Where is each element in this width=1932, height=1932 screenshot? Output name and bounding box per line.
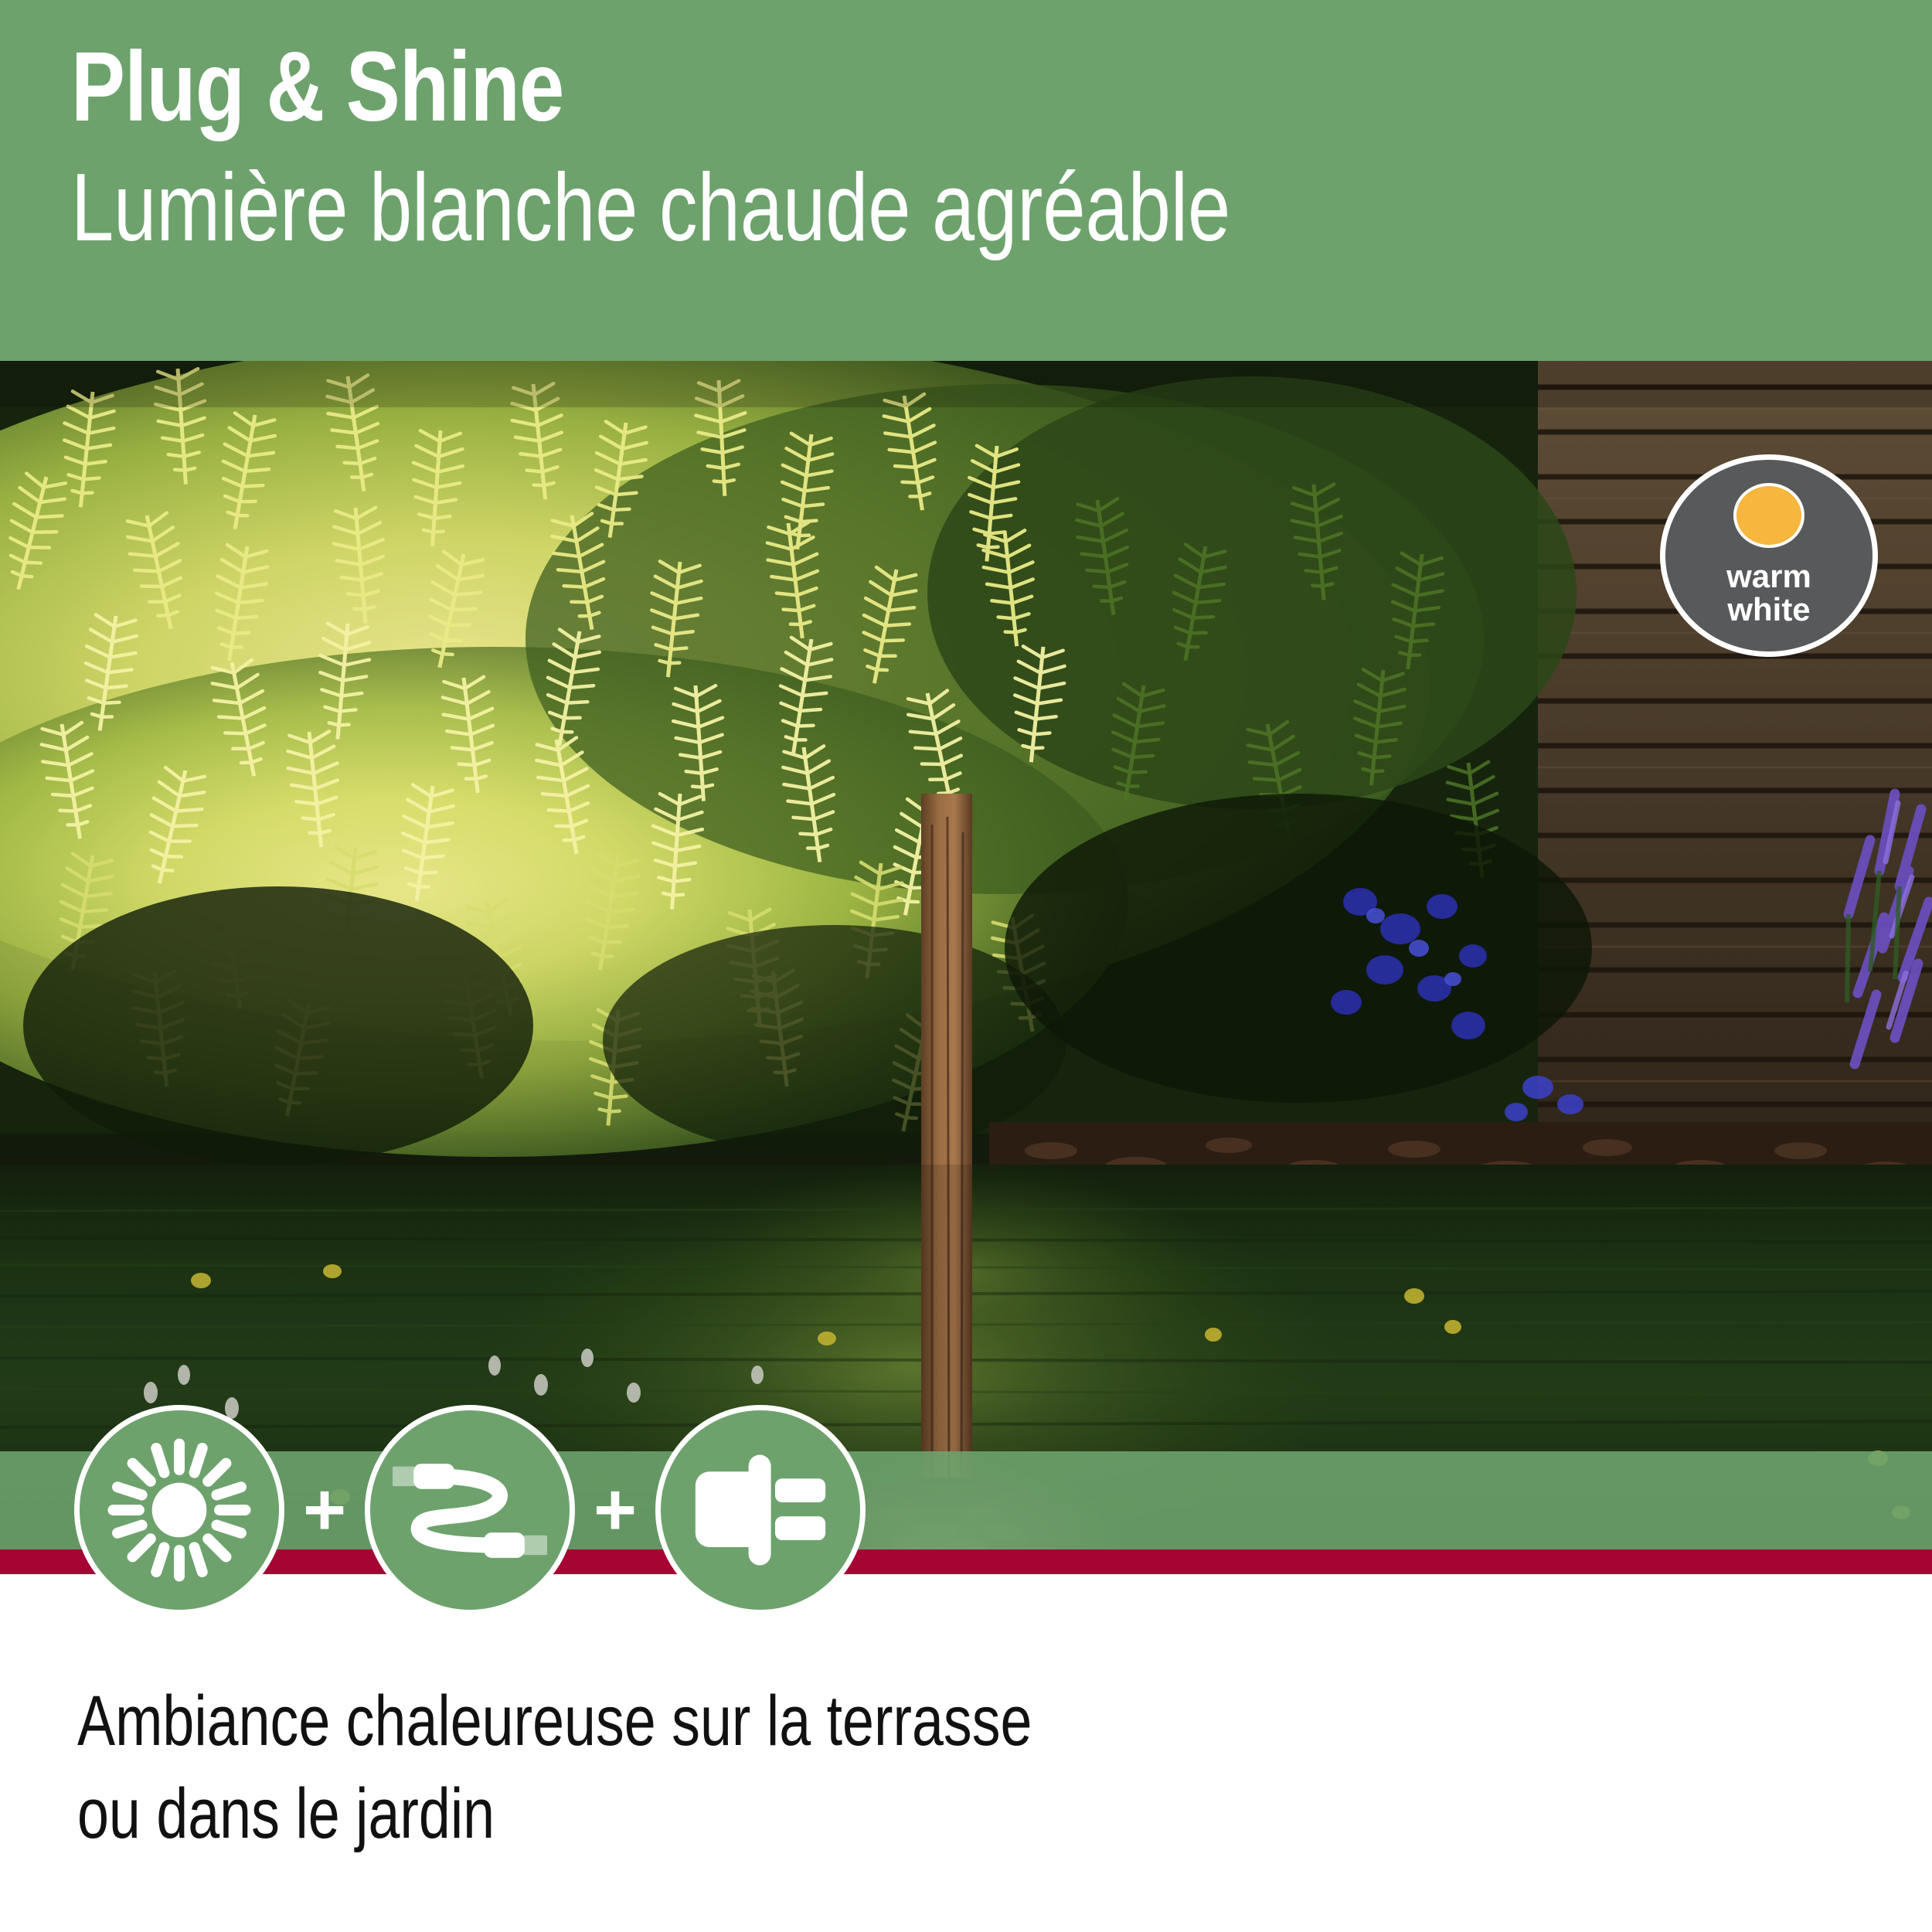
warm-white-label-line1: warm xyxy=(1726,558,1811,594)
header-banner: Plug & Shine Lumière blanche chaude agré… xyxy=(0,0,1932,361)
caption-line-1: Ambiance chaleureuse sur la terrasse xyxy=(77,1682,1032,1760)
cable-connector-icon-circle xyxy=(365,1405,575,1615)
brand-title: Plug & Shine xyxy=(71,37,1597,138)
plug-transformer-icon-circle xyxy=(655,1405,866,1615)
header-tagline: Lumière blanche chaude agréable xyxy=(71,158,1560,258)
warm-white-color-dot xyxy=(1733,483,1804,548)
warm-white-label: warm white xyxy=(1726,560,1811,627)
sun-light-icon-circle xyxy=(74,1405,284,1615)
marketing-card: Plug & Shine Lumière blanche chaude agré… xyxy=(0,0,1932,1932)
garden-photo xyxy=(0,361,1932,1573)
plug-transformer-icon xyxy=(687,1444,834,1577)
cable-connector-icon xyxy=(393,1438,547,1582)
caption-text: Ambiance chaleureuse sur la terrasse ou … xyxy=(77,1675,1437,1860)
warm-white-badge: warm white xyxy=(1660,454,1878,657)
warm-white-label-line2: white xyxy=(1727,591,1810,628)
plus-separator-1: + xyxy=(284,1473,365,1547)
sun-light-icon xyxy=(107,1438,251,1582)
plus-separator-2: + xyxy=(575,1473,655,1547)
system-icon-row: + + xyxy=(74,1405,866,1615)
caption-line-2: ou dans le jardin xyxy=(77,1768,1437,1861)
